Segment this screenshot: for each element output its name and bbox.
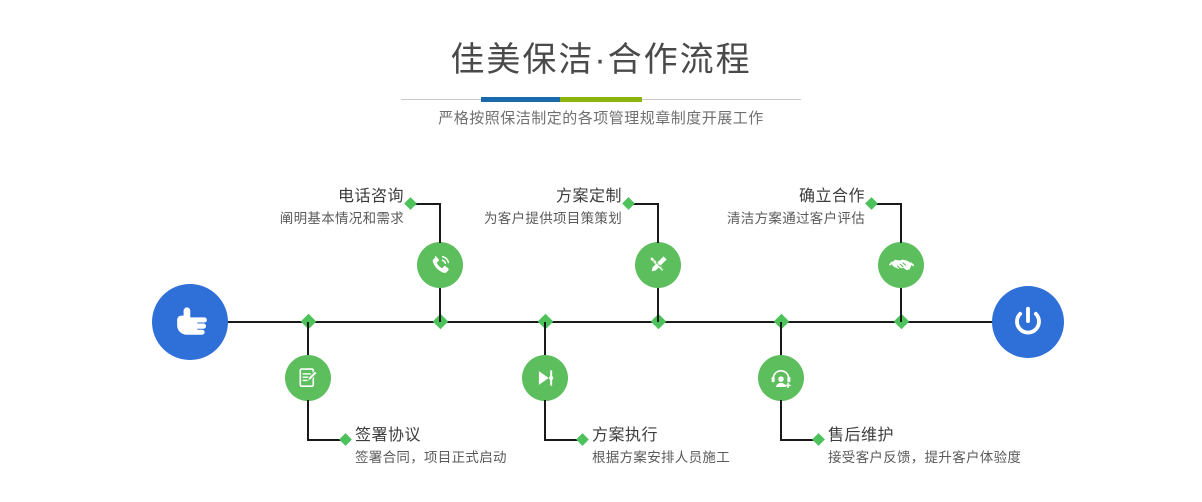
step-icon-customer-service [758,355,804,401]
page-subtitle: 严格按照保洁制定的各项管理规章制度开展工作 [0,107,1202,131]
title-divider [401,96,801,104]
phone-call-icon [427,252,453,278]
step-icon-phone-call [417,242,463,288]
label-anchor-diamond [576,433,589,446]
step-title: 方案执行 [592,425,730,447]
timeline-start-marker [152,284,228,360]
contract-edit-icon [295,365,321,391]
label-anchor-diamond [339,433,352,446]
step-label-6: 售后维护 接受客户反馈，提升客户体验度 [828,425,1021,469]
connector-stem [439,288,441,322]
connector-elbow-horizontal [307,439,343,441]
handshake-icon [888,252,915,279]
step-desc: 根据方案安排人员施工 [592,447,730,469]
connector-elbow-vertical [544,400,546,440]
step-title: 确立合作 [463,186,865,208]
step-icon-pencil-ruler [635,242,681,288]
connector-stem [780,322,782,355]
label-anchor-diamond [865,197,878,210]
step-title: 签署协议 [355,425,507,447]
play-execute-icon [532,365,558,391]
divider-segment-green [560,97,642,102]
pencil-ruler-icon [645,252,671,278]
connector-elbow-vertical [307,400,309,440]
connector-stem [544,322,546,355]
customer-service-add-icon [768,365,794,391]
connector-elbow-vertical [780,400,782,440]
connector-stem [900,288,902,322]
divider-segment-blue [481,97,560,102]
process-flow-infographic: 佳美保洁·合作流程 严格按照保洁制定的各项管理规章制度开展工作 [0,0,1202,502]
step-desc: 接受客户反馈，提升客户体验度 [828,447,1021,469]
step-label-5: 确立合作 清洁方案通过客户评估 [463,186,865,230]
step-label-2: 签署协议 签署合同，项目正式启动 [355,425,507,469]
pointing-hand-icon [168,300,212,344]
power-icon [1008,302,1048,342]
page-title: 佳美保洁·合作流程 [0,38,1202,82]
step-label-4: 方案执行 根据方案安排人员施工 [592,425,730,469]
connector-stem [657,288,659,322]
step-desc: 签署合同，项目正式启动 [355,447,507,469]
step-icon-play-execute [522,355,568,401]
step-title: 售后维护 [828,425,1021,447]
step-icon-handshake [878,242,924,288]
connector-elbow-horizontal [780,439,816,441]
timeline-end-marker [992,286,1064,358]
step-icon-contract-edit [285,355,331,401]
connector-elbow-horizontal [544,439,580,441]
connector-elbow-vertical [900,203,902,243]
connector-stem [307,322,309,355]
label-anchor-diamond [812,433,825,446]
step-desc: 清洁方案通过客户评估 [463,208,865,230]
